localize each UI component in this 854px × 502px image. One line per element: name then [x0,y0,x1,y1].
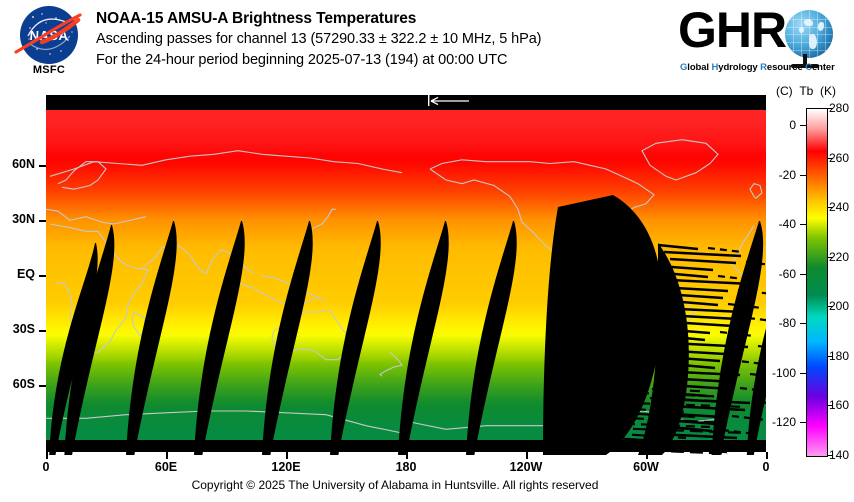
x-tick-0 [46,452,48,459]
x-label-4: 120W [496,460,556,474]
page-header: NASA MSFC NOAA-15 AMSU-A Brightness Temp… [0,0,854,92]
x-tick-5 [646,452,648,459]
ghrc-tag-enter: enter [812,62,835,73]
y-label-60S: 60S [0,378,35,391]
x-tick-1 [166,452,168,459]
nasa-logo: NASA MSFC [12,4,86,78]
top-nodata-band [46,95,766,110]
x-label-3: 180 [376,460,436,474]
y-tick-EQ [39,275,46,277]
colorbar-label-c--100: -100 [760,367,796,379]
x-tick-6 [766,452,768,459]
brightness-temperature-field [46,110,766,440]
ghrc-tag-c: C [805,62,812,73]
colorbar-label-k-240: 240 [829,201,849,213]
y-label-30S: 30S [0,323,35,336]
colorbar-label-k-160: 160 [829,399,849,411]
colorbar-label-k-140: 140 [829,449,849,461]
x-label-5: 60W [616,460,676,474]
title-block: NOAA-15 AMSU-A Brightness Temperatures A… [96,8,666,71]
colorbar-gradient [807,109,827,456]
ghrc-logo: GHR Global Hydrology Resource Center [678,4,846,78]
colorbar-label-k-200: 200 [829,300,849,312]
page-subtitle-period: For the 24-hour period beginning 2025-07… [96,50,666,71]
y-label-EQ: EQ [0,268,35,281]
colorbar-quantity: Tb [799,84,813,98]
colorbar-tick-c--120 [800,422,806,423]
y-tick-30S [39,330,46,332]
y-tick-30N [39,220,46,222]
y-label-30N: 30N [0,213,35,226]
copyright-notice: Copyright © 2025 The University of Alaba… [0,478,790,492]
x-label-6: 0 [736,460,796,474]
nasa-center-label: MSFC [12,64,86,76]
nasa-swoosh-icon [14,12,84,58]
colorbar-tick-c--80 [800,323,806,324]
colorbar[interactable] [806,108,828,457]
ghrc-tag-esource: esource [767,62,805,73]
colorbar-header: (C) Tb (K) [776,84,836,98]
colorbar-tick-c--40 [800,224,806,225]
x-label-0: 0 [16,460,76,474]
colorbar-label-k-220: 220 [829,251,849,263]
y-label-60N: 60N [0,158,35,171]
ghrc-tag-lobal: lobal [687,62,711,73]
colorbar-label-k-280: 280 [829,102,849,114]
colorbar-label-c--120: -120 [760,416,796,428]
colorbar-label-k-260: 260 [829,152,849,164]
x-tick-4 [526,452,528,459]
colorbar-unit-celsius: (C) [776,84,793,98]
colorbar-label-c--60: -60 [760,268,796,280]
page-title: NOAA-15 AMSU-A Brightness Temperatures [96,8,666,29]
colorbar-label-k-180: 180 [829,350,849,362]
colorbar-tick-c-0 [800,125,806,126]
orbital-swath-gaps [46,125,766,455]
globe-icon [785,10,833,58]
x-label-2: 120E [256,460,316,474]
y-tick-60N [39,165,46,167]
x-tick-3 [406,452,408,459]
colorbar-tick-c--60 [800,274,806,275]
ghrc-tagline: Global Hydrology Resource Center [680,62,846,73]
colorbar-tick-c--100 [800,373,806,374]
y-tick-60S [39,385,46,387]
colorbar-label-c--20: -20 [760,169,796,181]
colorbar-tick-c--20 [800,175,806,176]
colorbar-unit-kelvin: (K) [820,84,836,98]
ghrc-tag-r: R [760,62,767,73]
colorbar-label-c--80: -80 [760,317,796,329]
x-tick-2 [286,452,288,459]
colorbar-label-c-0: 0 [760,119,796,131]
x-label-1: 60E [136,460,196,474]
ghrc-tag-ydrology: ydrology [718,62,760,73]
map-plot-area[interactable] [46,95,766,452]
north-arrow-annotation [411,95,471,110]
page-subtitle-channel: Ascending passes for channel 13 (57290.3… [96,29,666,50]
colorbar-label-c--40: -40 [760,218,796,230]
